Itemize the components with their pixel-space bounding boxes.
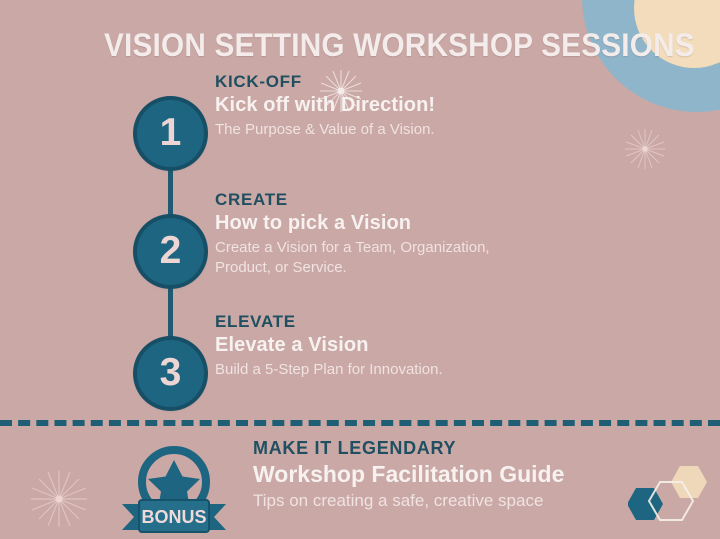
step-text-block: CREATE How to pick a Vision Create a Vis… xyxy=(215,190,685,278)
bonus-headline: Workshop Facilitation Guide xyxy=(253,461,564,488)
step-subtitle: The Purpose & Value of a Vision. xyxy=(215,120,515,140)
step-eyebrow: KICK-OFF xyxy=(215,72,302,92)
bonus-eyebrow: MAKE IT LEGENDARY xyxy=(253,438,564,459)
step-number-label: 2 xyxy=(160,231,182,270)
infographic-poster: VISION SETTING WORKSHOP SESSIONS 1 KICK-… xyxy=(0,0,720,539)
bonus-badge-label: BONUS xyxy=(141,507,206,527)
step-subtitle: Build a 5-Step Plan for Innovation. xyxy=(215,360,515,380)
step-number-badge: 3 xyxy=(137,340,204,407)
step-number-label: 3 xyxy=(160,353,182,392)
step-eyebrow: CREATE xyxy=(215,190,288,210)
step-number-badge: 1 xyxy=(137,100,204,167)
step-text-block: KICK-OFF Kick off with Direction! The Pu… xyxy=(215,72,685,140)
dashed-divider xyxy=(0,420,720,426)
bonus-award-badge-icon: BONUS xyxy=(112,438,236,536)
step-headline: Kick off with Direction! xyxy=(215,94,685,117)
bonus-subtitle: Tips on creating a safe, creative space xyxy=(253,491,564,511)
bonus-section: BONUS MAKE IT LEGENDARY Workshop Facilit… xyxy=(0,434,720,539)
bonus-text-block: MAKE IT LEGENDARY Workshop Facilitation … xyxy=(253,438,564,511)
hexagon-cluster-decoration xyxy=(628,462,712,539)
step-eyebrow: ELEVATE xyxy=(215,312,296,332)
step-headline: Elevate a Vision xyxy=(215,334,685,357)
step-text-block: ELEVATE Elevate a Vision Build a 5-Step … xyxy=(215,312,685,380)
step-number-label: 1 xyxy=(160,113,182,152)
step-number-badge: 2 xyxy=(137,218,204,285)
step-subtitle: Create a Vision for a Team, Organization… xyxy=(215,238,515,278)
step-headline: How to pick a Vision xyxy=(215,212,685,235)
page-title: VISION SETTING WORKSHOP SESSIONS xyxy=(104,27,695,64)
